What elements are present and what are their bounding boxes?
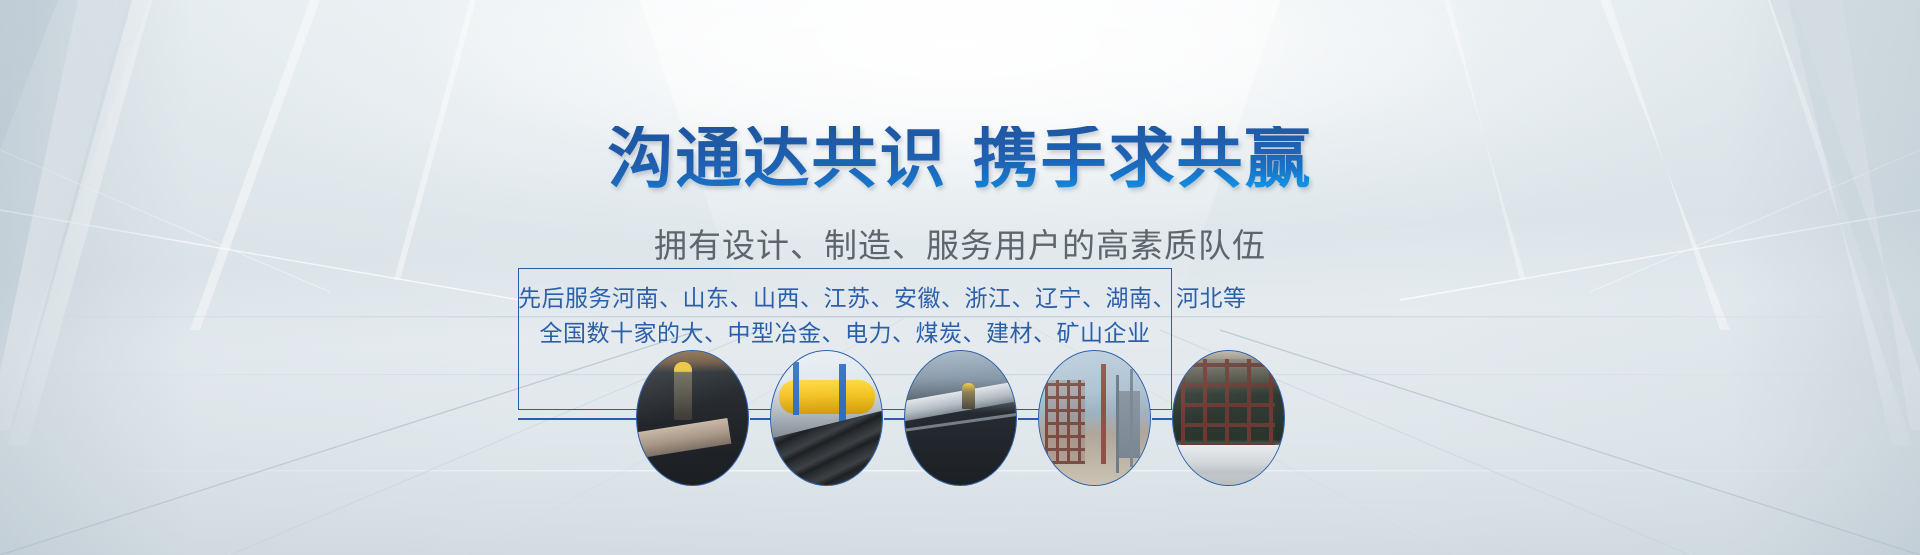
promotional-banner: 沟通达共识 携手求共赢 拥有设计、制造、服务用户的高素质队伍 先后服务河南、山东…: [0, 0, 1920, 555]
gallery-photo-4[interactable]: [1038, 350, 1151, 486]
service-scope-line-1: 先后服务河南、山东、山西、江苏、安徽、浙江、辽宁、湖南、河北等: [518, 282, 1172, 317]
gallery-photo-3[interactable]: [904, 350, 1017, 486]
banner-content: 沟通达共识 携手求共赢 拥有设计、制造、服务用户的高素质队伍 先后服务河南、山东…: [0, 0, 1920, 555]
gallery-photo-1[interactable]: [636, 350, 749, 486]
photo-steel-tank-section-icon: [905, 351, 1016, 485]
plant-tower-icon: [1118, 391, 1140, 458]
project-photo-gallery: [0, 350, 1920, 486]
scaffold-post-icon: [839, 364, 846, 434]
banner-subtitle: 拥有设计、制造、服务用户的高素质队伍: [0, 229, 1920, 262]
photo-tank-lining-worker-icon: [637, 351, 748, 485]
gallery-photo-2[interactable]: [770, 350, 883, 486]
photo-yellow-vessel-pipes-icon: [771, 351, 882, 485]
photo-steel-frame-workshop-icon: [1173, 351, 1284, 485]
gallery-photo-5[interactable]: [1172, 350, 1285, 486]
scaffold-post-icon: [793, 362, 799, 416]
worker-figure-icon: [848, 434, 864, 480]
service-scope-text: 先后服务河南、山东、山西、江苏、安徽、浙江、辽宁、湖南、河北等 全国数十家的大、…: [518, 282, 1172, 352]
service-scope-line-2: 全国数十家的大、中型冶金、电力、煤炭、建材、矿山企业: [518, 317, 1172, 352]
banner-title: 沟通达共识 携手求共赢: [0, 126, 1920, 192]
photo-industrial-plant-icon: [1039, 351, 1150, 485]
machine-part-icon: [1224, 447, 1250, 467]
tank-edge-icon: [904, 411, 1017, 433]
